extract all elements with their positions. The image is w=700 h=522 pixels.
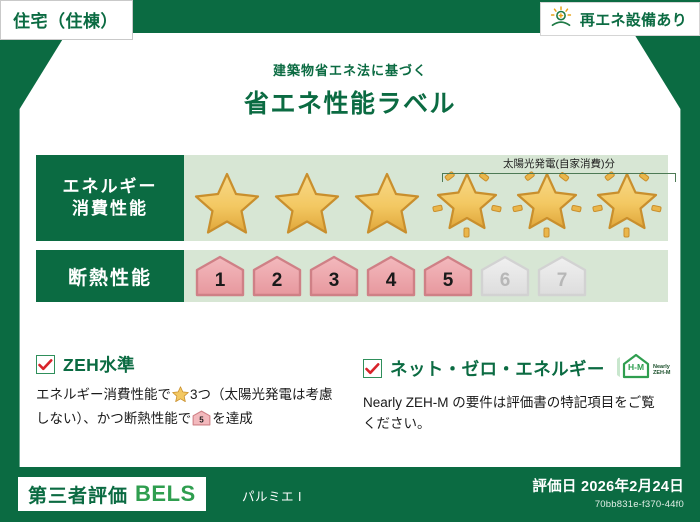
inline-house-5-icon: 5 <box>192 414 211 429</box>
row-energy-label: エネルギー 消費性能 <box>36 155 184 241</box>
building-type-tag-label: 住宅（住棟） <box>13 12 118 31</box>
house-grade-1: 1 <box>192 254 248 298</box>
net-zero-energy-checkbox[interactable] <box>363 359 382 378</box>
metric-rows: エネルギー 消費性能 <box>36 155 668 311</box>
star-6-sparkle <box>588 166 666 238</box>
row-insulation-performance: 断熱性能 1 <box>36 250 668 302</box>
renewable-energy-badge-label: 再エネ設備あり <box>580 9 687 30</box>
building-name: パルミエ I <box>242 486 302 505</box>
renewable-energy-badge: 再エネ設備あり <box>540 2 700 36</box>
zeh-suijun-body: エネルギー消費性能で3つ（太陽光発電は考慮しない）、かつ断熱性能で5を達成 <box>36 384 341 433</box>
building-type-tag: 住宅（住棟） <box>0 0 133 40</box>
house-grade-3: 3 <box>306 254 362 298</box>
zeh-suijun-text-part1: エネルギー消費性能で <box>36 387 171 402</box>
row-energy-label-line2: 消費性能 <box>72 198 148 220</box>
zeh-suijun-text-part3: を達成 <box>212 411 253 426</box>
row-insulation-label-line1: 断熱性能 <box>68 263 152 290</box>
energy-performance-label: 住宅（住棟） 再エネ設備あり 建築物省エネ法に基づく 省エネ性能ラベル <box>0 0 700 522</box>
house-grade-6: 6 <box>477 254 533 298</box>
star-5-sparkle <box>508 166 586 238</box>
heading-subtitle: 建築物省エネ法に基づく <box>0 60 700 79</box>
check-icon <box>365 363 380 375</box>
insulation-grade-scale: 1 2 3 <box>192 254 590 298</box>
svg-text:5: 5 <box>200 416 205 425</box>
star-3 <box>348 171 426 234</box>
net-zero-energy-body: Nearly ZEH-M の要件は評価書の特記項目をご覧ください。 <box>363 392 668 435</box>
zeh-block-zeh-suijun: ZEH水準 エネルギー消費性能で3つ（太陽光発電は考慮しない）、かつ断熱性能で5… <box>36 352 341 435</box>
check-icon <box>38 359 53 371</box>
house-grade-5: 5 <box>420 254 476 298</box>
net-zero-energy-title: ネット・ゼロ・エネルギー <box>390 356 605 381</box>
inline-star-icon <box>172 390 189 405</box>
row-insulation-label: 断熱性能 <box>36 250 184 302</box>
zeh-block-net-zero-energy: ネット・ゼロ・エネルギー H-M Nearly ZEH-M Nearly ZEH… <box>363 352 668 435</box>
net-zero-energy-header: ネット・ゼロ・エネルギー H-M Nearly ZEH-M <box>363 352 668 385</box>
star-4-sparkle <box>428 166 506 238</box>
star-1 <box>188 171 266 234</box>
label-heading: 建築物省エネ法に基づく 省エネ性能ラベル <box>0 60 700 120</box>
bels-jp-label: 第三者評価 <box>28 481 128 508</box>
svg-text:H-M: H-M <box>628 362 644 372</box>
house-grade-4: 4 <box>363 254 419 298</box>
house-grade-2: 2 <box>249 254 305 298</box>
nearly-zeh-m-logo: H-M Nearly ZEH-M <box>617 352 673 385</box>
house-grade-7: 7 <box>534 254 590 298</box>
heading-title: 省エネ性能ラベル <box>0 84 700 120</box>
evaluation-id: 70bb831e-f370-44f0 <box>532 499 684 510</box>
zeh-suijun-header: ZEH水準 <box>36 352 341 377</box>
row-energy-performance: エネルギー 消費性能 <box>36 155 668 241</box>
svg-text:ZEH-M: ZEH-M <box>653 370 671 376</box>
row-insulation-body: 1 2 3 <box>184 250 668 302</box>
solar-sun-icon <box>549 6 573 33</box>
label-footer: 第三者評価 BELS パルミエ I 評価日 2026年2月24日 70bb831… <box>0 467 700 522</box>
star-rating <box>188 158 666 238</box>
row-energy-body: 太陽光発電(自家消費)分 <box>184 155 668 241</box>
zeh-sections: ZEH水準 エネルギー消費性能で3つ（太陽光発電は考慮しない）、かつ断熱性能で5… <box>36 352 668 435</box>
bels-en-label: BELS <box>135 481 196 507</box>
bels-badge: 第三者評価 BELS <box>18 477 206 511</box>
footer-right: 評価日 2026年2月24日 70bb831e-f370-44f0 <box>532 475 684 510</box>
star-2 <box>268 171 346 234</box>
evaluation-date: 評価日 2026年2月24日 <box>532 475 684 496</box>
zeh-suijun-title: ZEH水準 <box>63 352 135 377</box>
zeh-suijun-checkbox[interactable] <box>36 355 55 374</box>
row-energy-label-line1: エネルギー <box>63 176 158 198</box>
